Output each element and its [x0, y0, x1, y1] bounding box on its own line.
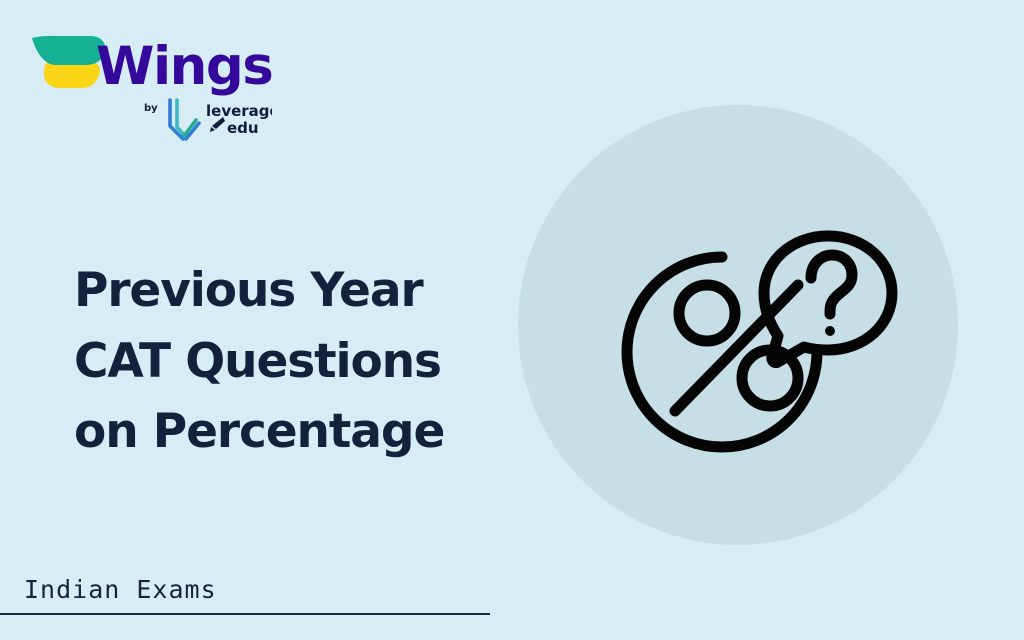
brand-logo[interactable]: Wings by leverage edu	[30, 28, 270, 146]
leverage-edu-logo: leverage edu	[166, 96, 272, 144]
footer-divider	[0, 613, 490, 615]
category-label: Indian Exams	[24, 575, 217, 604]
page-title-line-1: Previous Year	[74, 256, 544, 327]
leverage-word: leverage	[206, 102, 272, 120]
wing-upper-teal	[32, 36, 105, 65]
leverage-book-icon	[170, 100, 199, 139]
question-mark-dot	[827, 328, 833, 334]
edu-word: edu	[227, 119, 259, 137]
thumbnail-canvas: Wings by leverage edu Previous Year CAT …	[0, 0, 1024, 640]
page-title-line-3: on Percentage	[74, 397, 544, 468]
question-mark-glyph	[811, 255, 852, 314]
page-title-line-2: CAT Questions	[74, 327, 544, 398]
by-label: by	[144, 103, 158, 114]
percent-question-icon	[600, 195, 900, 460]
page-title: Previous Year CAT Questions on Percentag…	[74, 256, 544, 468]
percent-upper-ring	[679, 285, 735, 341]
wings-wordmark: Wings	[96, 40, 272, 93]
wing-lower-yellow	[44, 62, 100, 88]
